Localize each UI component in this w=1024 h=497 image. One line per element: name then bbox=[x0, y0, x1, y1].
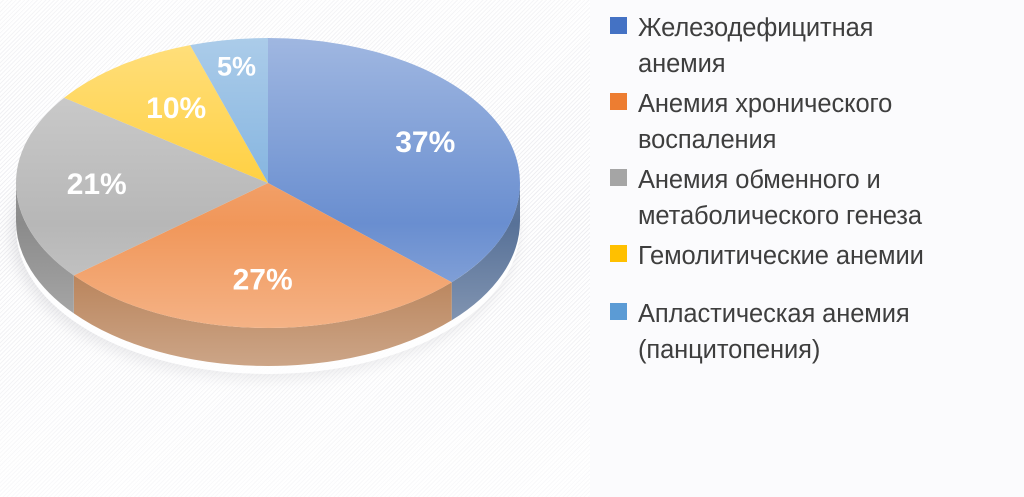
legend-label-chronic-inflammation: Анемия хронического воспаления bbox=[638, 86, 892, 158]
pie-label-chronic-inflammation: 27% bbox=[233, 263, 293, 296]
legend-item-hemolytic[interactable]: Гемолитические анемии bbox=[610, 238, 1016, 274]
legend-swatch-iron-deficiency bbox=[610, 17, 627, 34]
legend-swatch-chronic-inflammation bbox=[610, 93, 627, 110]
legend-spacer bbox=[610, 278, 1016, 296]
legend-swatch-hemolytic bbox=[610, 245, 627, 262]
legend-item-aplastic[interactable]: Апластическая анемия (панцитопения) bbox=[610, 296, 1016, 368]
chart-legend: Железодефицитная анемия Анемия хроническ… bbox=[590, 0, 1024, 497]
legend-label-hemolytic: Гемолитические анемии bbox=[638, 238, 924, 274]
pie-label-iron-deficiency: 37% bbox=[395, 126, 455, 159]
pie-label-metabolic: 21% bbox=[67, 168, 127, 201]
legend-item-chronic-inflammation[interactable]: Анемия хронического воспаления bbox=[610, 86, 1016, 158]
legend-label-aplastic: Апластическая анемия (панцитопения) bbox=[638, 296, 910, 368]
legend-label-metabolic: Анемия обменного и метаболического генез… bbox=[638, 162, 922, 234]
pie-chart: 37% 27% 21% 10% 5% bbox=[0, 0, 590, 497]
plot-area: 37% 27% 21% 10% 5% bbox=[0, 0, 590, 497]
legend-swatch-metabolic bbox=[610, 169, 627, 186]
pie-chart-svg: 37% 27% 21% 10% 5% bbox=[0, 0, 590, 497]
pie-chart-figure: 37% 27% 21% 10% 5% Железодефицитная анем… bbox=[0, 0, 1024, 497]
pie-label-hemolytic: 10% bbox=[146, 92, 206, 125]
legend-item-iron-deficiency[interactable]: Железодефицитная анемия bbox=[610, 10, 1016, 82]
legend-label-iron-deficiency: Железодефицитная анемия bbox=[638, 10, 873, 82]
legend-swatch-aplastic bbox=[610, 303, 627, 320]
pie-label-aplastic: 5% bbox=[217, 52, 256, 82]
legend-item-metabolic[interactable]: Анемия обменного и метаболического генез… bbox=[610, 162, 1016, 234]
